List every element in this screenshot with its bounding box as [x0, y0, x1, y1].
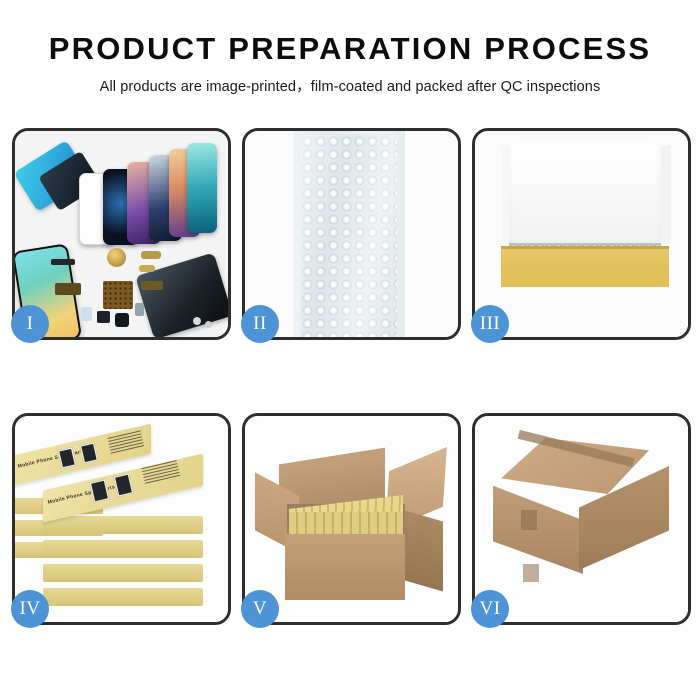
step-badge-1: I [11, 305, 49, 343]
step-badge-2: II [241, 305, 279, 343]
small-part-2-icon [97, 311, 110, 323]
wrap-sheen-icon [301, 135, 397, 337]
step-1-image [15, 131, 228, 337]
box-lid-icon [509, 143, 661, 251]
step-6-image [475, 416, 688, 622]
process-step-5: V [242, 413, 461, 625]
screw-2-icon [205, 321, 212, 328]
small-part-6-icon [139, 265, 155, 272]
logic-board-icon [103, 281, 133, 309]
small-part-4-icon [135, 303, 144, 316]
carton-tab-2-icon [523, 564, 539, 582]
page-subtitle: All products are image-printed，film-coat… [0, 77, 700, 97]
process-step-grid: I II III [12, 128, 688, 625]
step-3-image [475, 131, 688, 337]
step-badge-3: III [471, 305, 509, 343]
step-2-image [245, 131, 458, 337]
small-part-3-icon [115, 313, 129, 327]
step-4-image: Mobile Phone Spare Parts Mobile Phone Sp… [15, 416, 228, 622]
process-step-2: II [242, 128, 461, 340]
step-badge-6: VI [471, 590, 509, 628]
speaker-coil-icon [107, 248, 126, 267]
stack-box-r2 [43, 540, 203, 558]
small-part-7-icon [141, 281, 163, 290]
product-preparation-infographic: PRODUCT PREPARATION PROCESS All products… [0, 0, 700, 700]
carton-tab-1-icon [521, 510, 537, 530]
stack-box-r1 [43, 516, 203, 534]
small-part-5-icon [141, 251, 161, 259]
carton-side-icon [405, 511, 443, 592]
stack-box-r3 [43, 564, 203, 582]
process-step-4: Mobile Phone Spare Parts Mobile Phone Sp… [12, 413, 231, 625]
step-badge-4: IV [11, 590, 49, 628]
carton-front-icon [285, 534, 405, 600]
process-step-3: III [472, 128, 691, 340]
box-stack-icon: Mobile Phone Spare Parts Mobile Phone Sp… [15, 416, 228, 622]
inner-box-front-icon [501, 271, 669, 287]
sealed-carton-left-icon [493, 478, 583, 574]
stack-box-r4 [43, 588, 203, 606]
phone-display-5-icon [187, 143, 217, 233]
step-5-image [245, 416, 458, 622]
small-part-1-icon [81, 307, 92, 321]
carton-contents-icon [289, 512, 403, 534]
page-title: PRODUCT PREPARATION PROCESS [0, 30, 700, 68]
process-step-6: VI [472, 413, 691, 625]
header: PRODUCT PREPARATION PROCESS All products… [0, 0, 700, 97]
process-step-1: I [12, 128, 231, 340]
component-bar-icon [51, 259, 75, 265]
step-badge-5: V [241, 590, 279, 628]
screw-1-icon [193, 317, 201, 325]
flex-cable-icon [55, 283, 81, 295]
